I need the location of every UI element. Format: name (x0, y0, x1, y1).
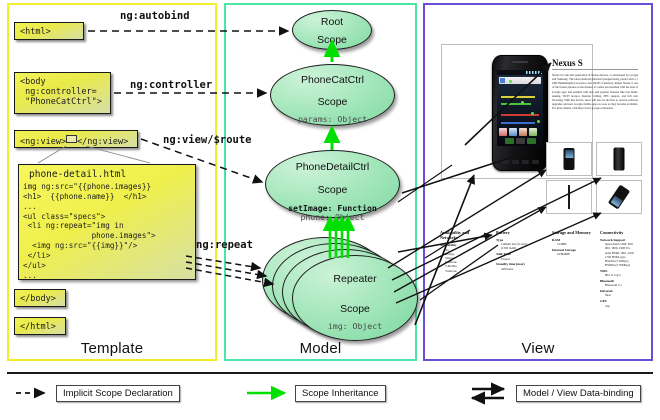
spec-column-availability: Availability and Networks Availability 3… (440, 230, 486, 273)
scope-repeater-name-1: Repeater (293, 256, 417, 286)
ngview-placeholder-rect (66, 135, 77, 143)
phone-statusbar (497, 70, 543, 75)
scope-phonecatctrl-name-1: PhoneCatCtrl (271, 65, 394, 87)
diagram-canvas: Template Model View <html> <body ng:cont… (0, 0, 660, 420)
code-box-body-close: </body> (14, 289, 66, 307)
legend-label-inheritance: Scope Inheritance (295, 385, 386, 402)
dock-icon-launcher (516, 138, 525, 144)
phone-app-icon-row (499, 128, 541, 136)
spec-header-storage: Storage and Memory (552, 230, 600, 235)
spec-val-battery-type-1: (1500 mAh) (496, 246, 542, 250)
spec-val-network-5: HSDPA (5.76Mbps) (600, 263, 640, 267)
view-phone-description: Nexus S is the next generation of Nexus … (552, 73, 638, 135)
dock-icon-browser (527, 138, 536, 144)
phone-hardware-buttons (499, 160, 541, 167)
spec-val-bluetooth-0: Bluetooth 2.1 (600, 283, 640, 287)
view-specs-table: Availability and Networks Availability 3… (440, 230, 636, 322)
spec-column-connectivity: Connectivity Network Support Quad-band G… (600, 230, 640, 308)
spec-val-ram-0: 512MB (552, 242, 600, 246)
scope-repeater-name-2: Scope (293, 286, 417, 316)
scope-repeater: Repeater Scope img: Object (292, 255, 418, 341)
thumbnail-angled-open[interactable] (596, 180, 642, 214)
partial-filename: phone-detail.html (19, 165, 195, 182)
legend-label-databinding: Model / View Data-binding (516, 385, 641, 402)
panel-model-label: Model (226, 340, 415, 357)
scope-root-name-2: Scope (293, 29, 371, 47)
spec-val-gps-0: true (600, 304, 640, 308)
phone-dock (499, 137, 541, 145)
button-search (522, 160, 529, 164)
button-menu (512, 160, 519, 164)
spec-val-internal-storage-0: 16384MB (552, 252, 600, 256)
spec-header-connectivity: Connectivity (600, 230, 640, 235)
thumbnail-side-profile[interactable] (546, 180, 592, 214)
code-box-body-open: <body ng:controller= "PhoneCatCtrl"> (14, 72, 111, 114)
phone-search-widget (499, 77, 541, 84)
wallpaper-dot-2 (521, 101, 524, 104)
spec-column-battery: Battery Type Lithium Ion (Li-Ion) (1500 … (496, 230, 542, 271)
thumbnail-front-screen[interactable] (546, 142, 592, 176)
thumb-phone-glyph-1 (564, 148, 575, 170)
scope-phonedetailctrl-name-1: PhoneDetailCtrl (266, 151, 399, 174)
legend-item-databinding: Model / View Data-binding (468, 384, 641, 402)
scope-phonedetailctrl-attr-setimage: setImage: Function (266, 197, 399, 214)
scope-phonedetailctrl-attr-phone: phone: Object (266, 213, 399, 223)
thumb-phone-glyph-3 (568, 185, 570, 209)
legend-label-implicit: Implicit Scope Declaration (56, 385, 180, 402)
scope-root-name-1: Root (293, 11, 371, 29)
code-box-html-close: </html> (14, 317, 66, 335)
dock-icon-phone (505, 138, 514, 144)
button-back (502, 160, 509, 164)
scope-root: Root Scope (292, 10, 372, 50)
wallpaper-line-1 (501, 96, 535, 98)
rendered-view-page: Nexus S Nexus S is the next generation o… (434, 18, 642, 338)
phone-screen (497, 70, 543, 146)
button-home (532, 160, 539, 164)
partial-source-code: img ng:src="{{phone.images}} <h1> {{phon… (19, 182, 195, 281)
spec-val-talk-time-0: 6 hours (496, 257, 542, 261)
spec-header-availability: Availability and Networks (440, 230, 486, 241)
wallpaper-line-2 (501, 103, 531, 105)
scope-phonecatctrl: PhoneCatCtrl Scope params: Object (270, 64, 395, 126)
spec-val-wifi-0: 802.11 b/g/n (600, 273, 640, 277)
thumbnail-back[interactable] (596, 142, 642, 176)
wallpaper-line-4 (501, 122, 535, 124)
legend-divider (7, 372, 653, 374)
app-icon-2 (509, 128, 517, 136)
scope-repeater-attr-img: img: Object (293, 316, 417, 331)
legend-item-inheritance: Scope Inheritance (243, 384, 386, 402)
spec-val-availability-5: Vodafone (440, 269, 486, 273)
panel-view-label: View (425, 340, 651, 357)
thumb-phone-glyph-4 (608, 185, 630, 210)
app-icon-1 (499, 128, 507, 136)
app-icon-3 (519, 128, 527, 136)
caption-ng-repeat: ng:repeat (196, 239, 253, 251)
view-thumbnail-grid (546, 142, 642, 214)
app-icon-4 (529, 128, 537, 136)
phone-speaker (512, 61, 528, 63)
spec-header-battery: Battery (496, 230, 542, 235)
scope-phonecatctrl-name-2: Scope (271, 87, 394, 109)
caption-ng-view-route: ng:view/$route (163, 134, 252, 146)
nexus-s-phone-image (492, 55, 548, 171)
scope-phonedetailctrl: PhoneDetailCtrl Scope setImage: Function… (265, 150, 400, 218)
spec-val-infrared-0: false (600, 293, 640, 297)
ngview-open-tag: <ng:view> (20, 137, 66, 147)
wallpaper-dot-3 (531, 112, 534, 115)
caption-ng-autobind: ng:autobind (120, 10, 190, 22)
legend-item-implicit: Implicit Scope Declaration (14, 384, 180, 402)
wallpaper-dot-4 (537, 120, 540, 123)
scope-phonedetailctrl-name-2: Scope (266, 174, 399, 197)
code-box-ngview: <ng:view></ng:view> (14, 130, 138, 148)
view-phone-name-heading: Nexus S (552, 58, 638, 70)
panel-template-label: Template (9, 340, 215, 357)
spec-column-storage: Storage and Memory RAM 512MB Internal St… (552, 230, 600, 257)
caption-ng-controller: ng:controller (130, 79, 212, 91)
spec-val-standby-0: 428 hours (496, 267, 542, 271)
scope-phonecatctrl-attr-params: params: Object (271, 109, 394, 125)
ngview-close-tag: </ng:view> (77, 137, 128, 147)
code-box-html-open: <html> (14, 22, 84, 40)
thumb-phone-glyph-2 (614, 148, 625, 171)
code-box-phone-detail-partial: phone-detail.html img ng:src="{{phone.im… (18, 164, 196, 280)
wallpaper-dot-1 (509, 80, 512, 83)
